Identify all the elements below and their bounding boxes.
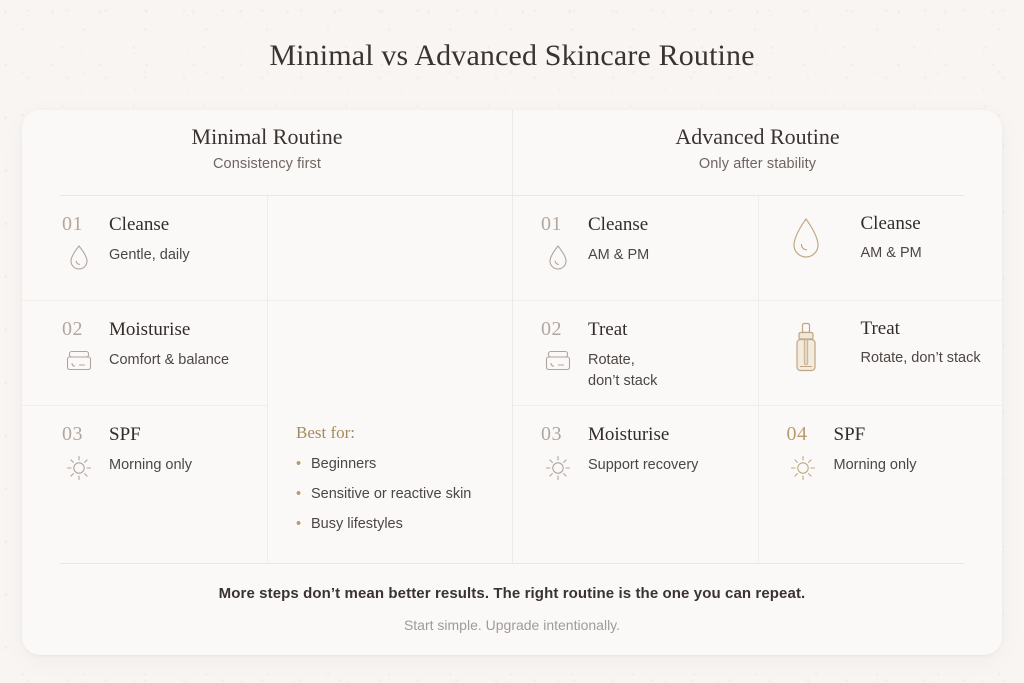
step-name: Treat <box>588 319 627 341</box>
droplet-icon <box>541 243 574 271</box>
advanced-steps-subcolumn: 01 Cleanse AM & PM 02 Treat <box>513 196 758 563</box>
step-name: Cleanse <box>109 214 169 236</box>
best-for-spacer-1 <box>268 196 512 301</box>
sun-icon <box>62 453 95 482</box>
step-description: Rotate, don’t stack <box>588 348 657 392</box>
step-number: 01 <box>62 213 95 236</box>
step-number: 01 <box>541 213 574 236</box>
footer-main-text: More steps don’t mean better results. Th… <box>22 585 1002 602</box>
droplet-large-icon <box>783 216 829 264</box>
step-number: 04 <box>787 423 820 446</box>
minimal-title: Minimal Routine <box>22 123 512 151</box>
step-number: 03 <box>541 423 574 446</box>
step-name: Moisturise <box>588 424 669 446</box>
minimal-subtitle: Consistency first <box>22 156 512 172</box>
advanced-step-2: 02 Treat Rotate, don’t stack <box>513 301 758 406</box>
minimal-step-3: 03 SPF Morning only <box>22 406 267 563</box>
minimal-step-2: 02 Moisturise Comfort & balance <box>22 301 267 406</box>
step-name: SPF <box>109 424 141 446</box>
sun-icon-gold <box>787 453 820 482</box>
list-item: Beginners <box>296 455 498 474</box>
step-description: Comfort & balance <box>109 348 229 371</box>
routine-comparison-card: Minimal Routine Consistency first Advanc… <box>22 110 1002 655</box>
step-number: 02 <box>62 318 95 341</box>
step-description: Rotate, don’t stack <box>861 348 989 369</box>
advanced-highlight-treat: Treat Rotate, don’t stack <box>759 301 1003 406</box>
advanced-highlight-cleanse: Cleanse AM & PM <box>759 196 1003 301</box>
minimal-step-1: 01 Cleanse Gentle, daily <box>22 196 267 301</box>
step-description: Morning only <box>109 453 192 476</box>
best-for-list: Beginners Sensitive or reactive skin Bus… <box>296 455 498 534</box>
cream-jar-icon <box>62 348 95 373</box>
droplet-icon <box>62 243 95 271</box>
best-for-subcolumn: Best for: Beginners Sensitive or reactiv… <box>267 196 512 563</box>
card-header: Minimal Routine Consistency first Advanc… <box>22 110 1002 195</box>
advanced-highlights-subcolumn: Cleanse AM & PM <box>758 196 1003 563</box>
advanced-highlight-spf: 04 SPF Morning only <box>759 406 1003 563</box>
footer-sub-text: Start simple. Upgrade intentionally. <box>22 617 1002 633</box>
sun-icon <box>541 453 574 482</box>
step-name: SPF <box>834 424 866 446</box>
best-for-spacer-2 <box>268 301 512 406</box>
serum-dropper-icon <box>783 321 829 375</box>
step-number: 03 <box>62 423 95 446</box>
advanced-step-3: 03 Moisturise Support recovery <box>513 406 758 563</box>
cream-jar-icon <box>541 348 574 373</box>
advanced-title: Advanced Routine <box>513 123 1002 151</box>
step-description: AM & PM <box>861 243 989 264</box>
best-for-block: Best for: Beginners Sensitive or reactiv… <box>268 406 512 563</box>
advanced-step-1: 01 Cleanse AM & PM <box>513 196 758 301</box>
column-header-minimal: Minimal Routine Consistency first <box>22 110 512 195</box>
advanced-routine-column: 01 Cleanse AM & PM 02 Treat <box>512 196 1002 563</box>
page-title: Minimal vs Advanced Skincare Routine <box>0 39 1024 73</box>
step-description: AM & PM <box>588 243 649 266</box>
step-description: Morning only <box>834 453 917 476</box>
column-header-advanced: Advanced Routine Only after stability <box>512 110 1002 195</box>
best-for-title: Best for: <box>296 423 498 443</box>
step-name: Cleanse <box>861 213 989 235</box>
step-name: Cleanse <box>588 214 648 236</box>
card-body: 01 Cleanse Gentle, daily 02 Moisturise <box>22 196 1002 563</box>
advanced-subtitle: Only after stability <box>513 156 1002 172</box>
card-footer: More steps don’t mean better results. Th… <box>22 564 1002 633</box>
step-number: 02 <box>541 318 574 341</box>
step-name: Moisturise <box>109 319 190 341</box>
step-description: Gentle, daily <box>109 243 190 266</box>
list-item: Busy lifestyles <box>296 515 498 534</box>
minimal-routine-column: 01 Cleanse Gentle, daily 02 Moisturise <box>22 196 512 563</box>
minimal-steps-subcolumn: 01 Cleanse Gentle, daily 02 Moisturise <box>22 196 267 563</box>
step-description: Support recovery <box>588 453 698 476</box>
list-item: Sensitive or reactive skin <box>296 485 498 504</box>
step-name: Treat <box>861 318 989 340</box>
